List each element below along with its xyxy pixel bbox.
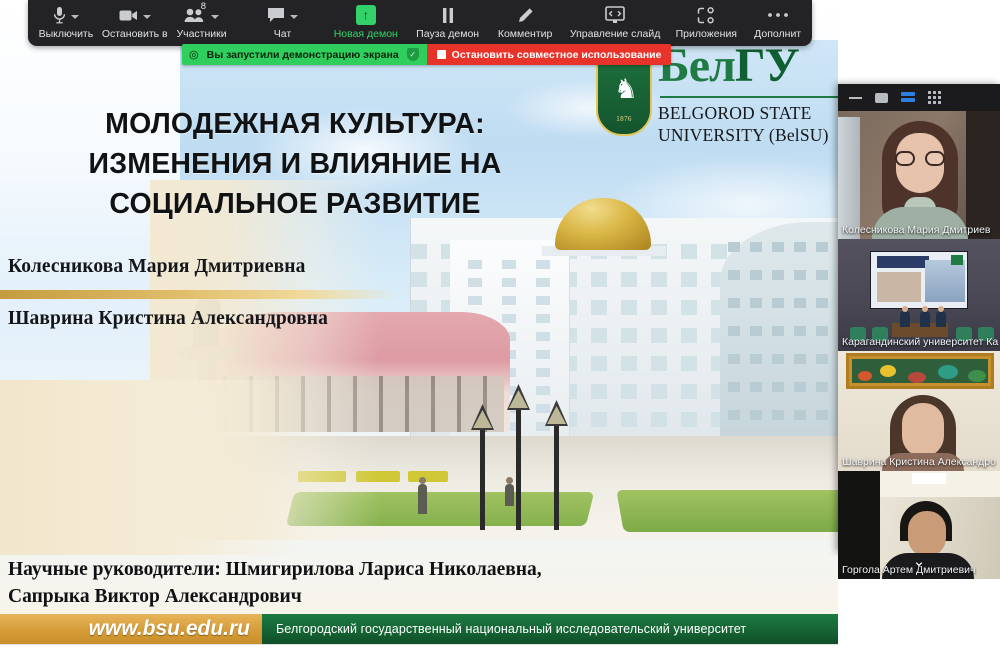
toolbar-new-share-button[interactable]: ↑ Новая демон xyxy=(330,2,402,40)
projector-screen xyxy=(870,251,968,309)
belsu-shield-icon: ♞ 1876 xyxy=(596,60,652,136)
chat-bubble-icon xyxy=(267,4,298,26)
pencil-annotate-icon xyxy=(517,4,534,26)
slide-author-2: Шаврина Кристина Александровна xyxy=(8,308,328,330)
logo-acronym-part2: ГУ xyxy=(735,39,799,92)
slide-title: МОЛОДЕЖНАЯ КУЛЬТУРА: ИЗМЕНЕНИЯ И ВЛИЯНИЕ… xyxy=(30,104,560,224)
slide-control-icon xyxy=(605,4,625,26)
meeting-toolbar: Выключить Остановить в 8 Участники Чат xyxy=(28,0,812,46)
toolbar-apps-button[interactable]: Приложения xyxy=(671,2,741,40)
bench xyxy=(408,471,448,482)
slide-beige-wash xyxy=(0,380,300,555)
building-curved-wing xyxy=(720,222,840,468)
apps-icon xyxy=(697,4,715,26)
belsu-logo: ♞ 1876 БелГУ BELGOROD STATE UNIVERSITY (… xyxy=(596,52,840,164)
shared-screen-area: МОЛОДЕЖНАЯ КУЛЬТУРА: ИЗМЕНЕНИЯ И ВЛИЯНИЕ… xyxy=(0,0,840,666)
lawn-right xyxy=(616,490,840,532)
slide-title-line-1: МОЛОДЕЖНАЯ КУЛЬТУРА: xyxy=(30,104,560,144)
slide-advisors-line-2: Сапрыка Виктор Александрович xyxy=(8,583,628,610)
presentation-slide: МОЛОДЕЖНАЯ КУЛЬТУРА: ИЗМЕНЕНИЯ И ВЛИЯНИЕ… xyxy=(0,0,840,666)
screen-root: МОЛОДЕЖНАЯ КУЛЬТУРА: ИЗМЕНЕНИЯ И ВЛИЯНИЕ… xyxy=(0,0,1000,666)
toolbar-participants-label: Участники xyxy=(176,28,226,40)
video-tile-4[interactable]: Горгола Артем Дмитриевич ⌄ xyxy=(838,471,1000,579)
wall-painting xyxy=(846,353,994,389)
shield-year: 1876 xyxy=(598,115,650,123)
share-status-text: Вы запустили демонстрацию экрана xyxy=(207,49,399,61)
toolbar-video-label: Остановить в xyxy=(102,28,168,40)
golden-dome xyxy=(555,198,651,250)
toolbar-new-share-label: Новая демон xyxy=(334,28,398,40)
street-lamp xyxy=(516,406,521,530)
logo-rule xyxy=(660,96,838,98)
video-camera-icon xyxy=(119,4,151,26)
toolbar-slide-control-label: Управление слайд xyxy=(570,28,661,40)
video-tile-1-name: Колесникова Мария Дмитриев xyxy=(838,222,1000,239)
slide-bottom-margin xyxy=(0,644,840,666)
slide-footer: www.bsu.edu.ru Белгородский государствен… xyxy=(0,614,840,644)
slide-footer-text: Белгородский государственный национальны… xyxy=(276,622,746,636)
street-lamp xyxy=(554,422,559,530)
slide-advisors: Научные руководители: Шмигирилова Лариса… xyxy=(8,556,628,610)
video-tile-2-name: Карагандинский университет Ка xyxy=(838,334,1000,351)
slide-title-line-2: ИЗМЕНЕНИЯ И ВЛИЯНИЕ НА xyxy=(30,144,560,184)
logo-name-en-line-2: UNIVERSITY (BelSU) xyxy=(658,124,840,146)
chevron-down-icon[interactable] xyxy=(143,15,151,19)
chevron-down-icon[interactable] xyxy=(211,15,219,19)
participants-icon: 8 xyxy=(184,4,219,26)
video-tile-3[interactable]: Шаврина Кристина Александро xyxy=(838,351,1000,471)
toolbar-pause-share-button[interactable]: Пауза демон xyxy=(412,2,483,40)
screen-share-notification: ◎ Вы запустили демонстрацию экрана ✓ Ост… xyxy=(182,44,671,65)
grid-view-icon[interactable] xyxy=(928,91,941,104)
toolbar-mute-button[interactable]: Выключить xyxy=(34,2,98,40)
chevron-down-icon[interactable] xyxy=(71,15,79,19)
gold-divider-band xyxy=(0,290,398,299)
slide-footer-url: www.bsu.edu.ru xyxy=(89,617,250,641)
maximize-icon[interactable] xyxy=(875,93,888,103)
video-tile-3-name: Шаврина Кристина Александро xyxy=(838,454,1000,471)
slide-footer-url-block: www.bsu.edu.ru xyxy=(0,614,262,644)
street-lamp xyxy=(480,426,485,530)
pegasus-icon: ♞ xyxy=(606,72,646,106)
eyeglasses-icon xyxy=(895,151,945,166)
video-panel-controls xyxy=(838,84,1000,111)
shield-security-icon[interactable]: ✓ xyxy=(407,48,419,61)
logo-name-en-line-1: BELGOROD STATE xyxy=(658,102,840,124)
share-screen-icon: ↑ xyxy=(356,4,376,26)
logo-acronym-ru: БелГУ xyxy=(658,40,799,92)
toolbar-participants-button[interactable]: 8 Участники xyxy=(172,2,232,40)
toolbar-mute-label: Выключить xyxy=(39,28,94,40)
toolbar-chat-label: Чат xyxy=(274,28,291,40)
video-tile-2[interactable]: Карагандинский университет Ка xyxy=(838,239,1000,351)
pedestrian xyxy=(505,484,514,506)
toolbar-annotate-button[interactable]: Комментир xyxy=(493,2,557,40)
stop-share-button[interactable]: Остановить совместное использование xyxy=(427,44,672,65)
toolbar-apps-label: Приложения xyxy=(676,28,737,40)
toolbar-annotate-label: Комментир xyxy=(498,28,553,40)
video-tile-1[interactable]: Колесникова Мария Дмитриев xyxy=(838,111,1000,239)
toolbar-slide-control-button[interactable]: Управление слайд xyxy=(567,2,663,40)
slide-author-1: Колесникова Мария Дмитриевна xyxy=(8,256,305,278)
slide-advisors-line-1: Научные руководители: Шмигирилова Лариса… xyxy=(8,556,628,583)
pause-icon xyxy=(441,4,455,26)
right-margin-top xyxy=(838,0,1000,84)
split-view-icon[interactable] xyxy=(901,92,915,103)
stop-share-label: Остановить совместное использование xyxy=(452,49,662,61)
slide-title-line-3: СОЦИАЛЬНОЕ РАЗВИТИЕ xyxy=(30,184,560,224)
stop-square-icon xyxy=(437,50,446,59)
toolbar-video-button[interactable]: Остановить в xyxy=(98,2,172,40)
microphone-icon xyxy=(53,4,79,26)
share-status-block: ◎ Вы запустили демонстрацию экрана ✓ xyxy=(182,44,427,65)
signal-icon: ◎ xyxy=(189,48,199,61)
toolbar-more-button[interactable]: Дополнит xyxy=(749,2,806,40)
more-dots-icon xyxy=(767,4,789,26)
chevron-down-icon[interactable] xyxy=(290,15,298,19)
video-filmstrip-panel: Колесникова Мария Дмитриев Карагандински… xyxy=(838,84,1000,552)
slide-footer-green-block: Белгородский государственный национальны… xyxy=(262,614,840,644)
minimize-icon[interactable] xyxy=(849,97,862,99)
toolbar-more-label: Дополнит xyxy=(754,28,801,40)
toolbar-pause-share-label: Пауза демон xyxy=(416,28,479,40)
pedestrian xyxy=(418,484,427,514)
logo-name-en: BELGOROD STATE UNIVERSITY (BelSU) xyxy=(658,102,840,146)
participants-count-badge: 8 xyxy=(201,1,206,12)
chevron-down-icon[interactable]: ⌄ xyxy=(913,557,926,567)
toolbar-chat-button[interactable]: Чат xyxy=(261,2,303,40)
